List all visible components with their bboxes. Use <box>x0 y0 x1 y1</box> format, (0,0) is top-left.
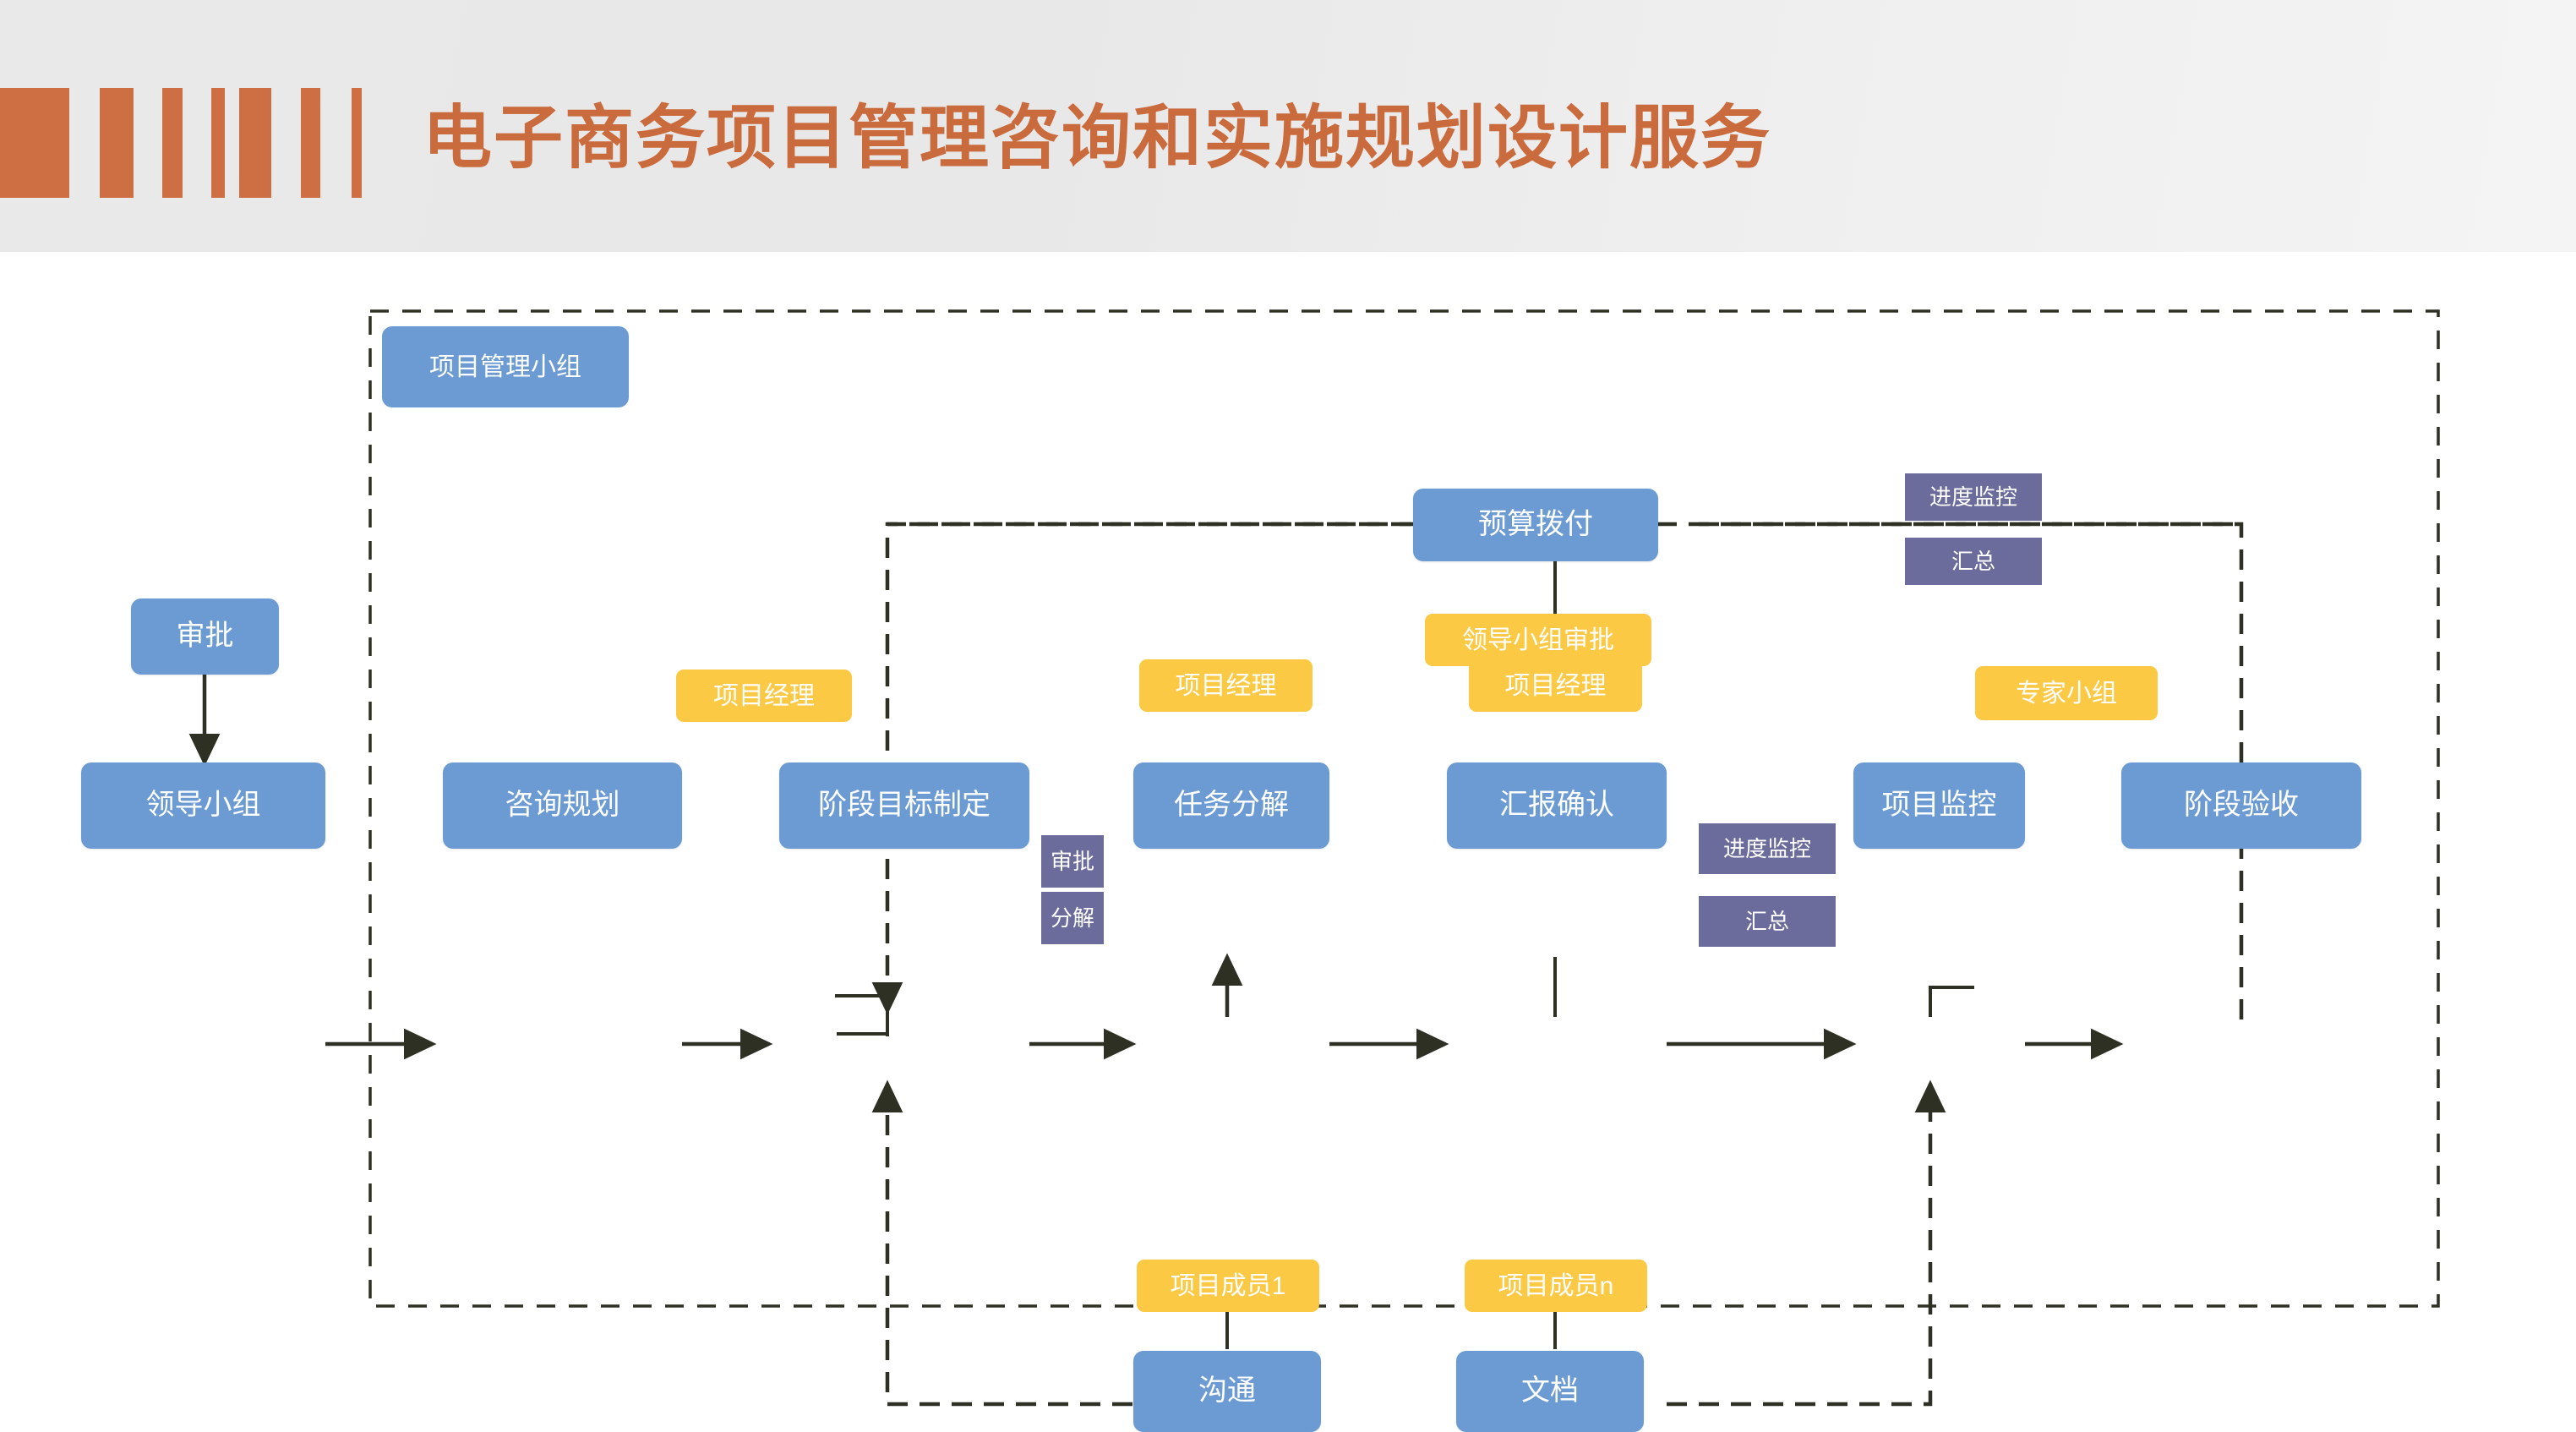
decorative-stripes <box>0 88 372 198</box>
edge-expert-to-monitor <box>1930 987 1974 1017</box>
flowchart-canvas: 项目管理小组 审批 领导小组 咨询规划 阶段目标制定 任务分解 汇报确认 项目监… <box>0 252 2576 1408</box>
tag-project-manager-task-split: 项目经理 <box>1139 659 1313 712</box>
edge-pm-elbow-phasegoal <box>835 996 887 1036</box>
tag-expert-group: 专家小组 <box>1975 666 2158 720</box>
node-budget-allocation[interactable]: 预算拨付 <box>1413 489 1658 561</box>
edge-tag-progress-monitor-top: 进度监控 <box>1905 473 2042 521</box>
tag-leader-group-approval: 领导小组审批 <box>1425 614 1651 666</box>
edge-pm-to-phasegoal <box>837 996 887 1034</box>
header-band: 电子商务项目管理咨询和实施规划设计服务 <box>0 0 2576 252</box>
node-leader-group[interactable]: 领导小组 <box>81 762 325 849</box>
node-phase-goal-setting[interactable]: 阶段目标制定 <box>779 762 1029 849</box>
edge-tag-summary-mid: 汇总 <box>1699 896 1836 947</box>
node-report-confirmation[interactable]: 汇报确认 <box>1447 762 1667 849</box>
edge-tag-summary-top: 汇总 <box>1905 538 2042 585</box>
edge-tag-decompose: 分解 <box>1041 892 1104 944</box>
stripe-1 <box>0 88 69 198</box>
stripe-6 <box>301 88 320 198</box>
tag-project-manager-report: 项目经理 <box>1469 659 1642 712</box>
stripe-4 <box>211 88 225 198</box>
page-title: 电子商务项目管理咨询和实施规划设计服务 <box>423 81 1771 182</box>
tag-project-member-n: 项目成员n <box>1465 1260 1647 1312</box>
edge-tag-approval: 审批 <box>1041 835 1104 888</box>
node-project-monitoring[interactable]: 项目监控 <box>1853 762 2025 849</box>
edge-communicate-feedback-to-phasegoal <box>887 1084 1132 1404</box>
tag-project-member-1: 项目成员1 <box>1137 1260 1319 1312</box>
node-documentation[interactable]: 文档 <box>1456 1351 1644 1432</box>
tag-project-manager-phase-goal: 项目经理 <box>676 670 852 722</box>
stripe-2 <box>100 88 134 198</box>
node-task-decomposition[interactable]: 任务分解 <box>1133 762 1329 849</box>
stripe-7 <box>352 88 362 198</box>
node-communication[interactable]: 沟通 <box>1133 1351 1321 1432</box>
node-consult-planning[interactable]: 咨询规划 <box>443 762 682 849</box>
stripe-5 <box>239 88 271 198</box>
edge-document-feedback-to-monitor <box>1667 1084 1930 1404</box>
stripe-3 <box>162 88 183 198</box>
node-approval[interactable]: 审批 <box>131 598 279 675</box>
node-phase-acceptance[interactable]: 阶段验收 <box>2121 762 2361 849</box>
edge-tag-progress-monitor-mid: 进度监控 <box>1699 823 1836 874</box>
group-label-project-management-team: 项目管理小组 <box>382 326 629 407</box>
